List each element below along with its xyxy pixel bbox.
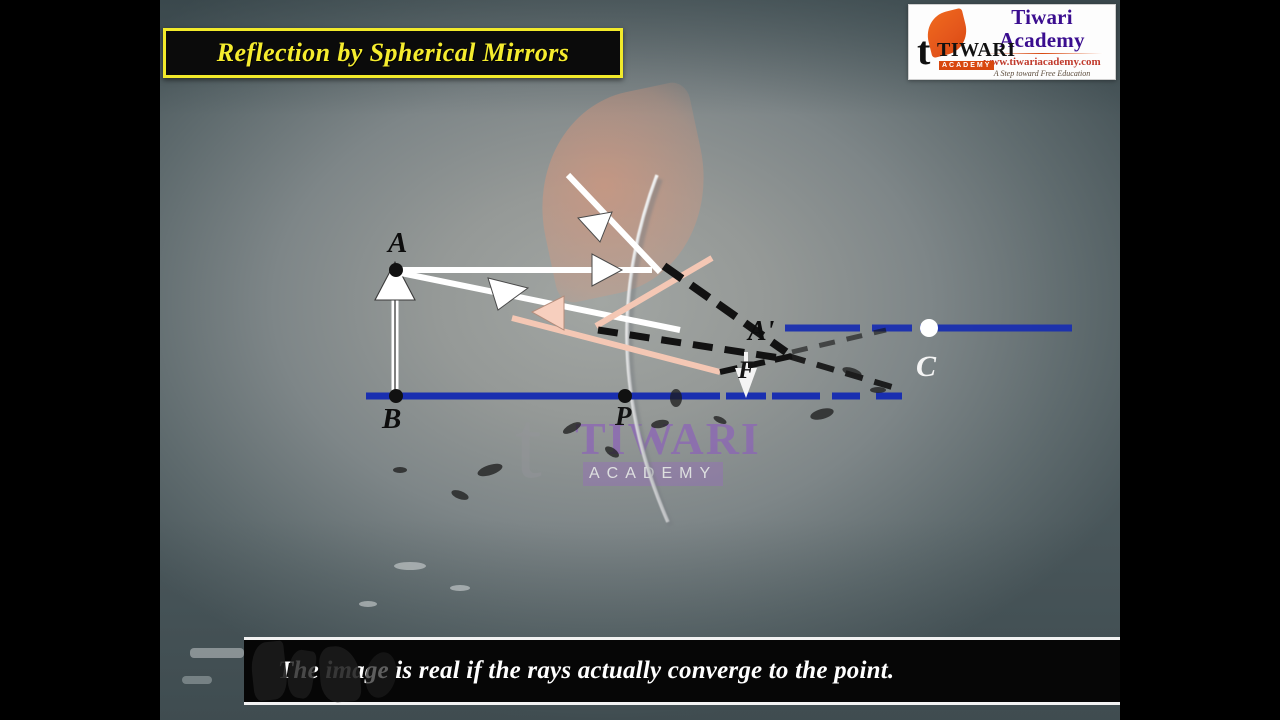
caption-bottom-rule (244, 702, 1120, 705)
point-C (920, 319, 938, 337)
point-A (389, 263, 403, 277)
video-frame[interactable]: t TIWARI ACADEMY (160, 0, 1120, 720)
logo-mark-sub: ACADEMY (939, 61, 994, 70)
caption-band: The image is real if the rays actually c… (244, 640, 1120, 702)
label-B: B (381, 403, 401, 435)
letterbox-left (0, 0, 160, 720)
label-F: F (737, 357, 755, 384)
title-banner: Reflection by Spherical Mirrors (163, 28, 623, 78)
logo-tagline: A Step toward Free Education (975, 69, 1109, 78)
point-B (389, 389, 403, 403)
caption-text: The image is real if the rays actually c… (244, 657, 894, 685)
letterbox-right (1120, 0, 1280, 720)
logo-mark-icon: t TIWARI ACADEMY (913, 9, 975, 75)
logo-t-letter: t (917, 31, 930, 71)
logo-mark-word: TIWARI (937, 39, 1016, 62)
label-A: A (386, 227, 407, 259)
ray-diagram: A B P F A' C (160, 0, 1120, 640)
label-P: P (614, 401, 632, 431)
label-A-prime: A' (746, 316, 775, 347)
video-player-screen: t TIWARI ACADEMY (0, 0, 1280, 720)
label-C: C (916, 350, 937, 383)
object-arrow-AB (375, 262, 415, 396)
caption-container: The image is real if the rays actually c… (160, 637, 1120, 720)
transition-noise-light (359, 562, 470, 607)
page-title: Reflection by Spherical Mirrors (217, 38, 570, 68)
tiwari-academy-logo[interactable]: t TIWARI ACADEMY Tiwari Academy www.tiwa… (908, 4, 1116, 80)
